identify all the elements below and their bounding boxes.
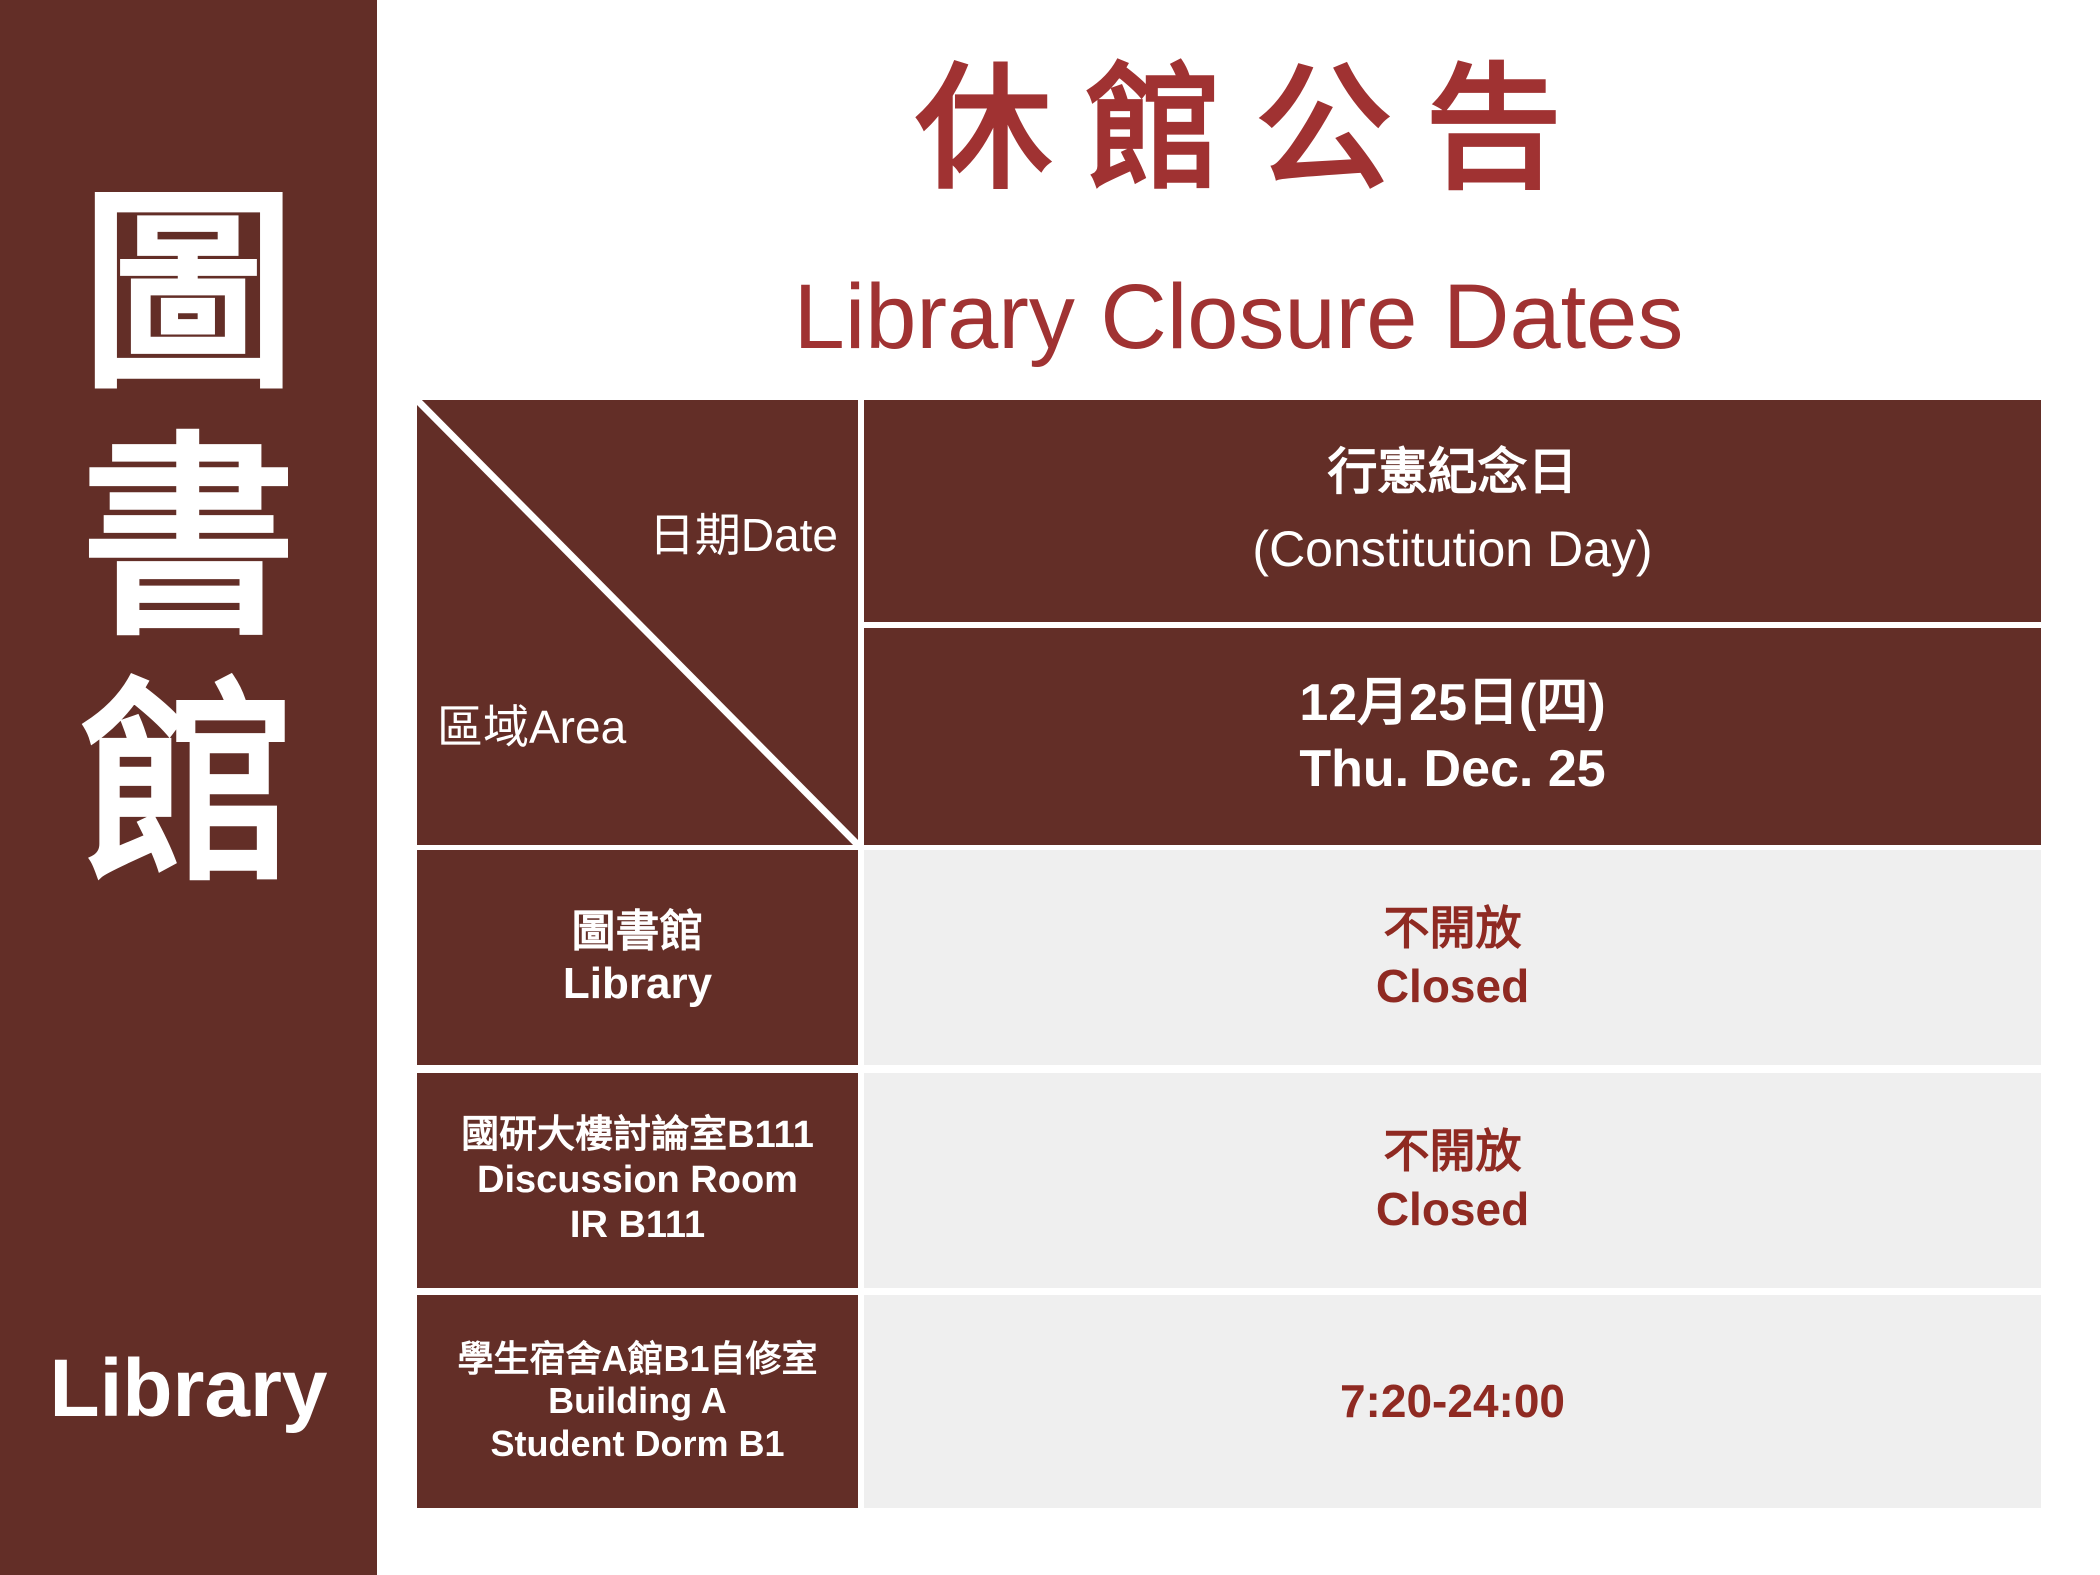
brand-title-en: Library xyxy=(0,1348,377,1430)
table-corner-header: 日期Date 區域Area xyxy=(417,400,858,845)
corner-date-label: 日期Date xyxy=(538,510,838,561)
area-name-cjk: 圖書館 xyxy=(572,906,704,958)
table-row-label-library: 圖書館 Library xyxy=(417,850,858,1065)
closure-date-en: Thu. Dec. 25 xyxy=(1299,737,1605,803)
area-name-cjk: 國研大樓討論室B111 xyxy=(461,1113,814,1158)
holiday-name-en: (Constitution Day) xyxy=(1252,511,1652,589)
status-en: Closed xyxy=(1376,1181,1529,1239)
brand-sidebar: 圖 書 館 Library xyxy=(0,0,377,1575)
status-en: 7:20-24:00 xyxy=(1340,1373,1565,1431)
table-row-label-student-dorm: 學生宿舍A館B1自修室 Building A Student Dorm B1 xyxy=(417,1295,858,1508)
status-en: Closed xyxy=(1376,958,1529,1016)
page-title-en: Library Closure Dates xyxy=(377,268,2100,367)
holiday-name-cjk: 行憲紀念日 xyxy=(1328,434,1578,512)
area-name-en-2: IR B111 xyxy=(570,1203,705,1248)
status-cjk: 不開放 xyxy=(1384,900,1522,958)
table-row-label-discussion-room: 國研大樓討論室B111 Discussion Room IR B111 xyxy=(417,1073,858,1288)
diagonal-divider-icon xyxy=(417,400,858,845)
poster-canvas: 圖 書 館 Library 休館公告 Library Closure Dates… xyxy=(0,0,2100,1575)
corner-area-label: 區域Area xyxy=(437,702,737,753)
closure-date-cjk: 12月25日(四) xyxy=(1299,671,1605,737)
table-cell-status-library: 不開放 Closed xyxy=(864,850,2041,1065)
brand-title-cjk: 圖 書 館 xyxy=(0,170,377,909)
area-name-en-2: Student Dorm B1 xyxy=(490,1423,784,1465)
column-header-date: 12月25日(四) Thu. Dec. 25 xyxy=(864,628,2041,845)
closure-table: 日期Date 區域Area 行憲紀念日 (Constitution Day) 1… xyxy=(417,400,2041,1508)
area-name-en: Discussion Room xyxy=(477,1158,798,1203)
status-cjk: 不開放 xyxy=(1384,1123,1522,1181)
area-name-en: Building A xyxy=(548,1380,727,1422)
column-header-holiday: 行憲紀念日 (Constitution Day) xyxy=(864,400,2041,622)
area-name-en: Library xyxy=(563,958,712,1010)
table-cell-status-student-dorm: 7:20-24:00 xyxy=(864,1295,2041,1508)
table-cell-status-discussion-room: 不開放 Closed xyxy=(864,1073,2041,1288)
page-title-cjk: 休館公告 xyxy=(377,55,2100,205)
area-name-cjk: 學生宿舍A館B1自修室 xyxy=(457,1338,817,1380)
